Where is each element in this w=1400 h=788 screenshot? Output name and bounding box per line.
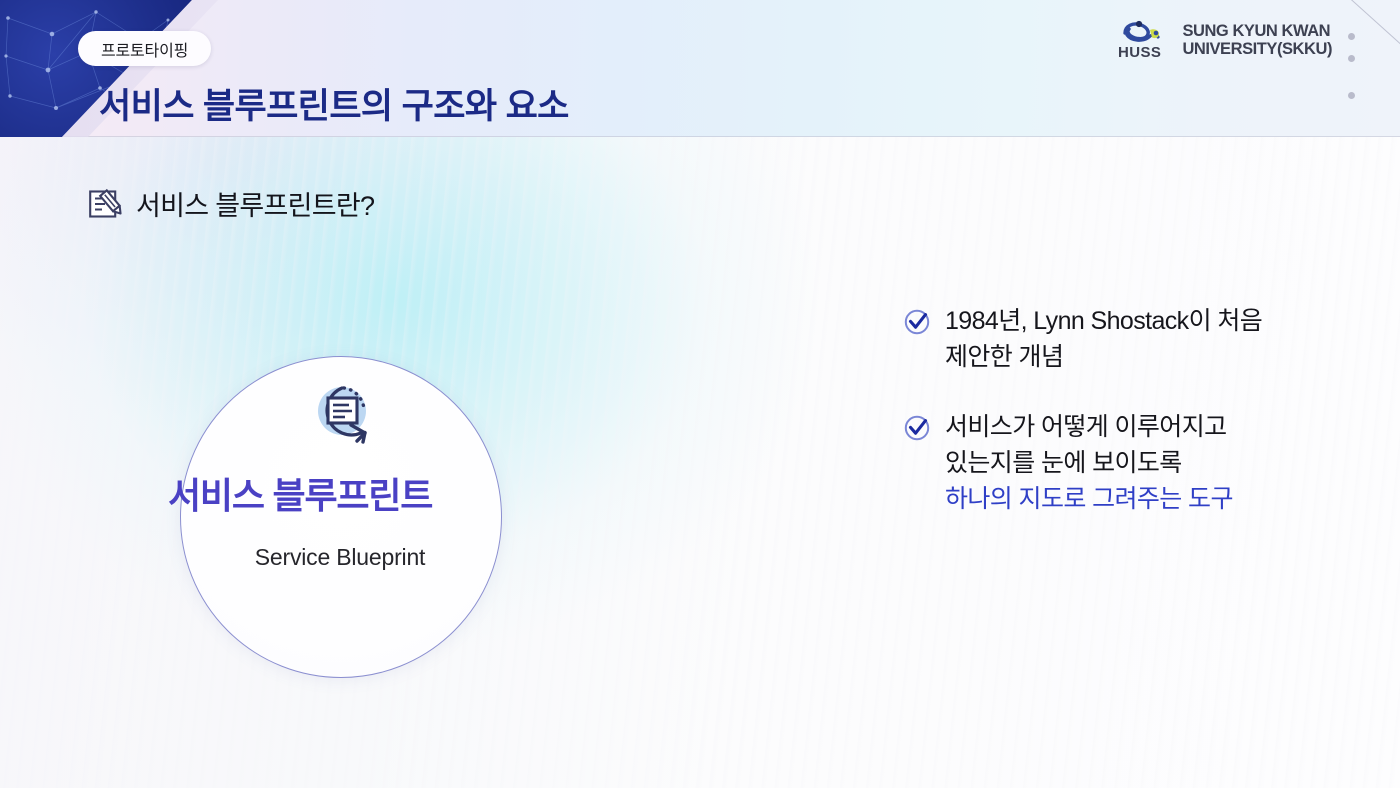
list-item-text: 1984년, Lynn Shostack이 처음 제안한 개념 [945,303,1262,375]
svg-text:HUSS: HUSS [1118,44,1161,61]
check-circle-icon [903,414,931,442]
category-badge: 프로토타이핑 [78,31,211,66]
blueprint-title-en: Service Blueprint [180,544,500,571]
page-title: 서비스 블루프린트의 구조와 요소 [99,78,569,129]
list-item: 1984년, Lynn Shostack이 처음 제안한 개념 [903,303,1363,375]
list-item-text: 서비스가 어떻게 이루어지고 있는지를 눈에 보이도록 하나의 지도로 그려주는… [945,409,1233,517]
bullet-list: 1984년, Lynn Shostack이 처음 제안한 개념 서비스가 어떻게… [903,303,1363,517]
bullet-line: 서비스가 어떻게 이루어지고 [945,409,1233,445]
slide-canvas: 프로토타이핑 서비스 블루프린트의 구조와 요소 HUSS SUNG KYUN … [0,0,1400,788]
deco-dot-2 [1348,55,1355,62]
deco-dot-1 [1348,33,1355,40]
bullet-line: 1984년, Lynn Shostack이 처음 [945,303,1262,339]
memo-pencil-icon [88,187,124,220]
section-heading: 서비스 블루프린트란? [88,184,374,223]
deco-dot-3 [1348,92,1355,99]
bullet-line-accent: 하나의 지도로 그려주는 도구 [945,481,1233,517]
university-logo: HUSS SUNG KYUN KWAN UNIVERSITY(SKKU) [1117,19,1332,61]
bullet-line: 제안한 개념 [945,339,1262,375]
list-item: 서비스가 어떻게 이루어지고 있는지를 눈에 보이도록 하나의 지도로 그려주는… [903,409,1363,517]
logo-wordmark: SUNG KYUN KWAN UNIVERSITY(SKKU) [1182,22,1332,59]
section-heading-text: 서비스 블루프린트란? [136,184,374,223]
check-circle-icon [903,308,931,336]
document-refresh-icon [297,381,385,455]
bullet-line: 있는지를 눈에 보이도록 [945,445,1233,481]
huss-logo-icon: HUSS [1117,19,1173,61]
logo-line-1: SUNG KYUN KWAN [1182,22,1332,40]
logo-line-2: UNIVERSITY(SKKU) [1182,40,1332,58]
